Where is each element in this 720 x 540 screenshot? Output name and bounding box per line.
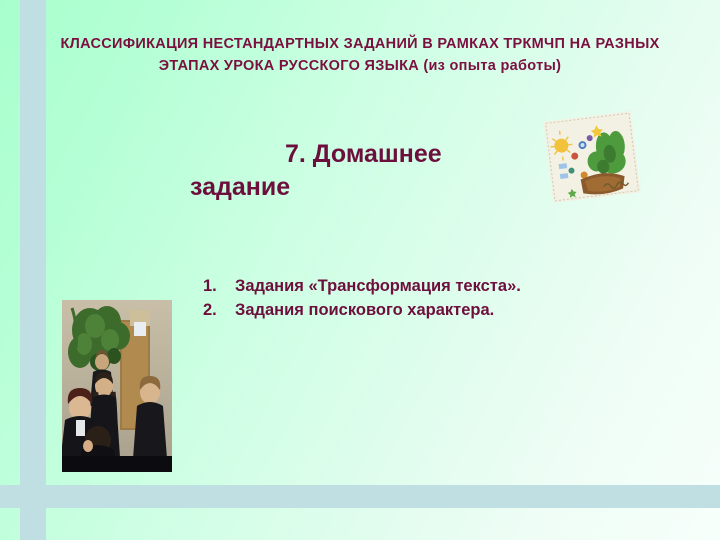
list-item-number: 2. [203, 298, 235, 322]
slide: КЛАССИФИКАЦИЯ НЕСТАНДАРТНЫХ ЗАДАНИЙ В РА… [0, 0, 720, 540]
slide-title-line-2: ЭТАПАХ УРОКА РУССКОГО ЯЗЫКА (из опыта ра… [0, 55, 720, 77]
list-item-number: 1. [203, 274, 235, 298]
decorative-vertical-bar [20, 0, 46, 540]
slide-heading-line-1: 7. Домашнее [190, 138, 520, 171]
slide-title: КЛАССИФИКАЦИЯ НЕСТАНДАРТНЫХ ЗАДАНИЙ В РА… [0, 33, 720, 77]
slide-heading-line-2: задание [190, 171, 520, 204]
slide-title-line-1: КЛАССИФИКАЦИЯ НЕСТАНДАРТНЫХ ЗАДАНИЙ В РА… [0, 33, 720, 55]
book-cover-clipart [543, 111, 640, 203]
slide-title-subnote: (из опыта работы) [423, 58, 561, 74]
list-item-label: Задания поискового характера. [235, 298, 494, 322]
decorative-horizontal-bar [0, 485, 720, 508]
task-list: 1. Задания «Трансформация текста». 2. За… [203, 274, 521, 322]
list-item: 2. Задания поискового характера. [203, 298, 521, 322]
slide-title-line-2-main: ЭТАПАХ УРОКА РУССКОГО ЯЗЫКА [159, 58, 424, 74]
list-item: 1. Задания «Трансформация текста». [203, 274, 521, 298]
classroom-photo [62, 300, 172, 472]
slide-heading: 7. Домашнее задание [190, 138, 520, 204]
list-item-label: Задания «Трансформация текста». [235, 274, 521, 298]
